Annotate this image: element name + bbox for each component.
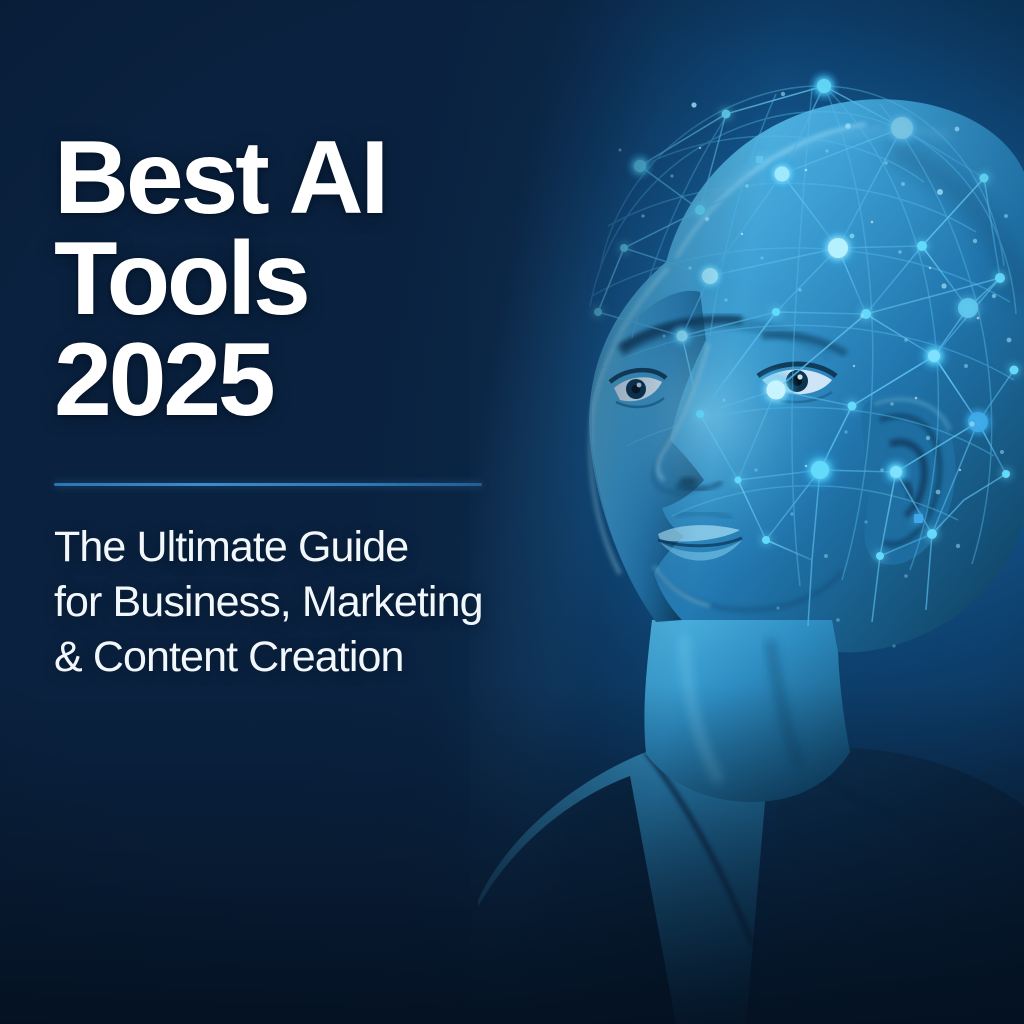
poster-canvas: Best AI Tools 2025 The Ultimate Guide fo… [0,0,1024,1024]
text-content-column: Best AI Tools 2025 The Ultimate Guide fo… [54,128,524,685]
page-subtitle: The Ultimate Guide for Business, Marketi… [54,520,524,685]
page-title: Best AI Tools 2025 [54,128,524,431]
divider-rule [54,483,482,486]
